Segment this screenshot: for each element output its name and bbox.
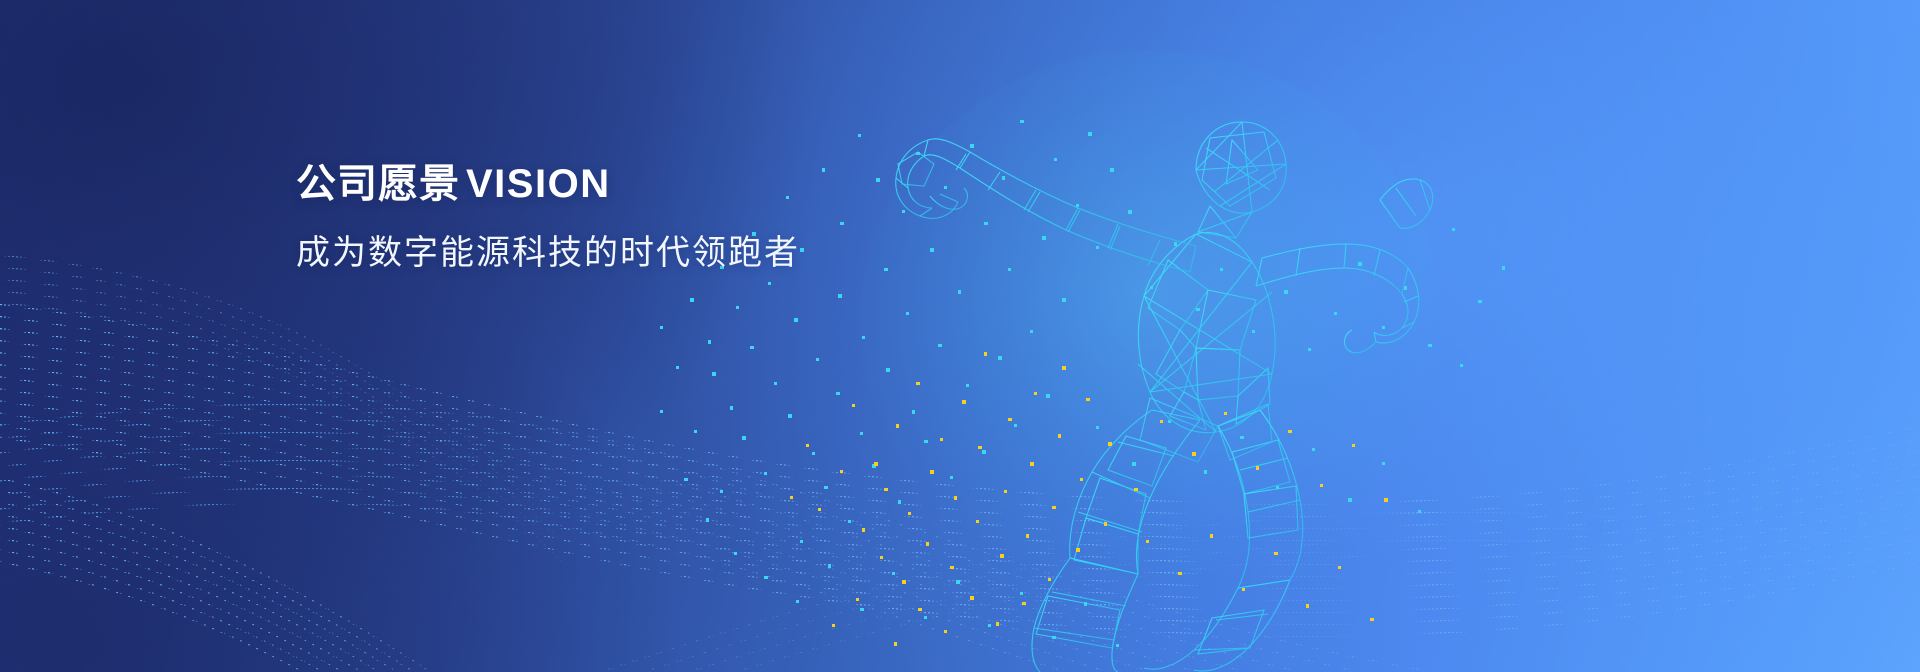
banner-text-block: 公司愿景VISION 成为数字能源科技的时代领跑者 [296, 160, 800, 275]
headline-chinese: 公司愿景 [296, 162, 460, 206]
background-shadow-bottomleft [0, 0, 1920, 672]
headline-english: VISION [466, 162, 611, 206]
vision-banner: 公司愿景VISION 成为数字能源科技的时代领跑者 [0, 0, 1920, 672]
banner-headline: 公司愿景VISION [296, 160, 800, 209]
banner-subtitle: 成为数字能源科技的时代领跑者 [296, 231, 800, 275]
